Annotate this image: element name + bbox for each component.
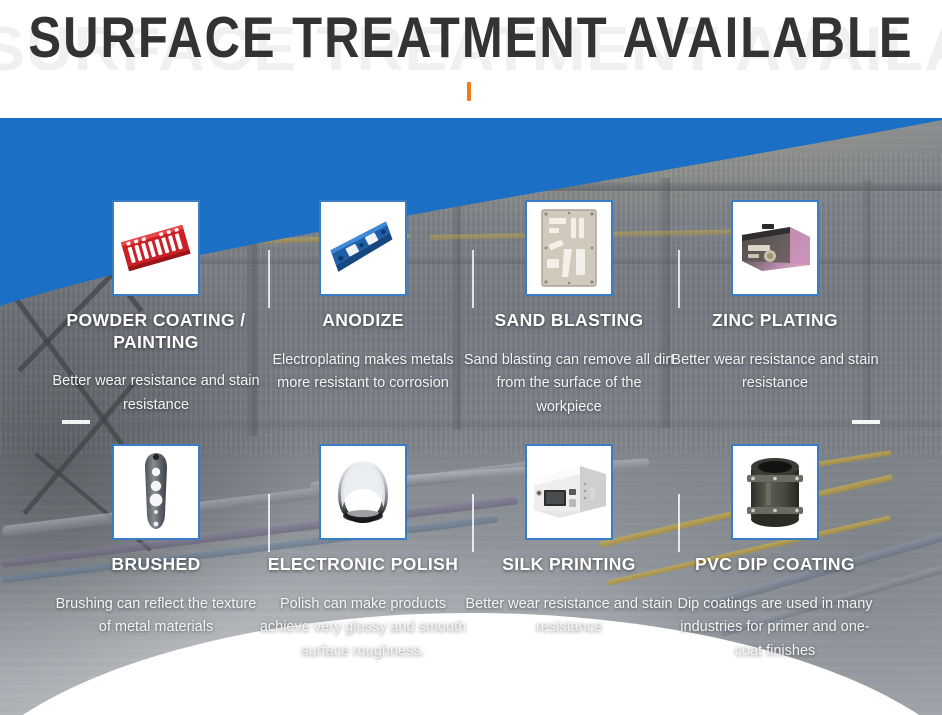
treatment-card-powder-coating[interactable]: POWDER COATING / PAINTING Better wear re… bbox=[49, 200, 263, 417]
zinc-plated-enclosure-icon bbox=[734, 213, 816, 283]
card-divider bbox=[472, 494, 474, 552]
row-separator-dash bbox=[62, 420, 90, 424]
brushed-thumbnail[interactable] bbox=[112, 444, 200, 540]
treatment-card-silk-printing[interactable]: SILK PRINTING Better wear resistance and… bbox=[462, 444, 676, 640]
card-title: SAND BLASTING bbox=[462, 310, 676, 332]
card-description: Polish can make products achieve very gl… bbox=[256, 593, 470, 663]
card-description: Better wear resistance and stain resista… bbox=[49, 370, 263, 417]
card-description: Better wear resistance and stain resista… bbox=[668, 349, 882, 396]
card-description: Dip coatings are used in many industries… bbox=[668, 593, 882, 663]
treatment-card-sand-blasting[interactable]: SAND BLASTING Sand blasting can remove a… bbox=[462, 200, 676, 419]
card-title: BRUSHED bbox=[49, 554, 263, 576]
card-title: PVC DIP COATING bbox=[668, 554, 882, 576]
card-title: ANODIZE bbox=[256, 310, 470, 332]
row-separator-dash bbox=[852, 420, 880, 424]
powder-coating-thumbnail[interactable] bbox=[112, 200, 200, 296]
card-title: ELECTRONIC POLISH bbox=[256, 554, 470, 576]
treatment-card-anodize[interactable]: ANODIZE Electroplating makes metals more… bbox=[256, 200, 470, 396]
pvc-coated-sleeve-icon bbox=[738, 453, 812, 531]
blue-anodized-bracket-icon bbox=[323, 209, 403, 287]
sand-blasting-thumbnail[interactable] bbox=[525, 200, 613, 296]
card-divider bbox=[678, 250, 680, 308]
zinc-plating-thumbnail[interactable] bbox=[731, 200, 819, 296]
card-title: ZINC PLATING bbox=[668, 310, 882, 332]
treatment-card-electronic-polish[interactable]: ELECTRONIC POLISH Polish can make produc… bbox=[256, 444, 470, 663]
card-description: Better wear resistance and stain resista… bbox=[462, 593, 676, 640]
card-description: Electroplating makes metals more resista… bbox=[256, 349, 470, 396]
silk-printing-thumbnail[interactable] bbox=[525, 444, 613, 540]
electronic-polish-thumbnail[interactable] bbox=[319, 444, 407, 540]
title-zone: SURFACE TREATMENT AVAILABLE SURFACE TREA… bbox=[0, 0, 942, 118]
grey-machined-plate-icon bbox=[538, 207, 600, 289]
card-divider bbox=[268, 250, 270, 308]
card-divider bbox=[472, 250, 474, 308]
card-title: SILK PRINTING bbox=[462, 554, 676, 576]
card-description: Sand blasting can remove all dirt from t… bbox=[462, 349, 676, 419]
brushed-metal-lever-icon bbox=[134, 450, 178, 534]
treatment-card-brushed[interactable]: BRUSHED Brushing can reflect the texture… bbox=[49, 444, 263, 640]
red-perforated-plate-icon bbox=[116, 209, 196, 287]
pvc-dip-coating-thumbnail[interactable] bbox=[731, 444, 819, 540]
treatment-card-grid: POWDER COATING / PAINTING Better wear re… bbox=[0, 108, 942, 715]
card-title: POWDER COATING / PAINTING bbox=[49, 310, 263, 353]
card-divider bbox=[268, 494, 270, 552]
treatment-card-pvc-dip-coating[interactable]: PVC DIP COATING Dip coatings are used in… bbox=[668, 444, 882, 663]
treatment-card-zinc-plating[interactable]: ZINC PLATING Better wear resistance and … bbox=[668, 200, 882, 396]
card-divider bbox=[678, 494, 680, 552]
surface-treatment-poster: SURFACE TREATMENT AVAILABLE SURFACE TREA… bbox=[0, 0, 942, 715]
white-metal-chassis-icon bbox=[528, 460, 610, 524]
polished-chrome-ring-icon bbox=[324, 453, 402, 531]
card-description: Brushing can reflect the texture of meta… bbox=[49, 593, 263, 640]
orange-accent-tick bbox=[467, 82, 471, 101]
page-title: SURFACE TREATMENT AVAILABLE bbox=[0, 5, 942, 71]
anodize-thumbnail[interactable] bbox=[319, 200, 407, 296]
